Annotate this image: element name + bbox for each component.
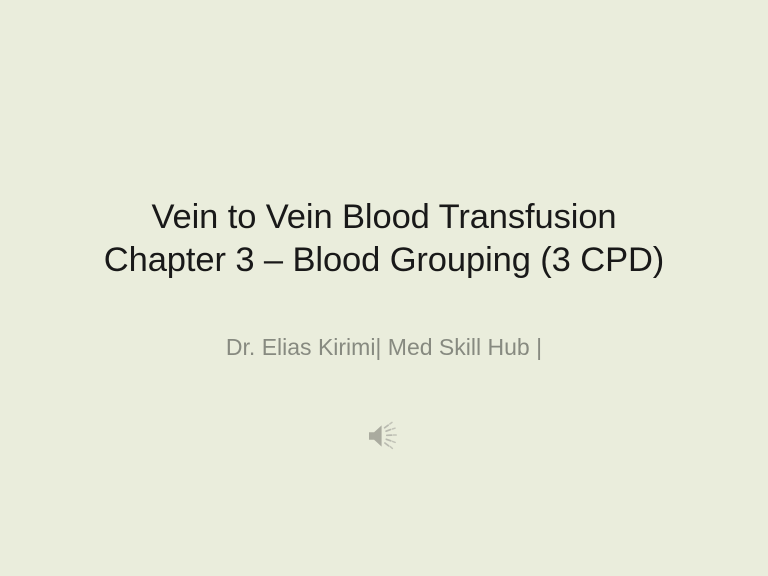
presentation-slide: Vein to Vein Blood Transfusion Chapter 3… (0, 0, 768, 576)
slide-subtitle: Dr. Elias Kirimi| Med Skill Hub | (0, 332, 768, 362)
slide-title-line-1: Vein to Vein Blood Transfusion (0, 196, 768, 239)
slide-title-line-2: Chapter 3 – Blood Grouping (3 CPD) (0, 239, 768, 282)
speaker-audio-icon[interactable] (367, 420, 401, 452)
slide-title: Vein to Vein Blood Transfusion Chapter 3… (0, 196, 768, 282)
slide-subtitle-line-1: Dr. Elias Kirimi| Med Skill Hub | (0, 332, 768, 362)
audio-object[interactable] (0, 420, 768, 452)
